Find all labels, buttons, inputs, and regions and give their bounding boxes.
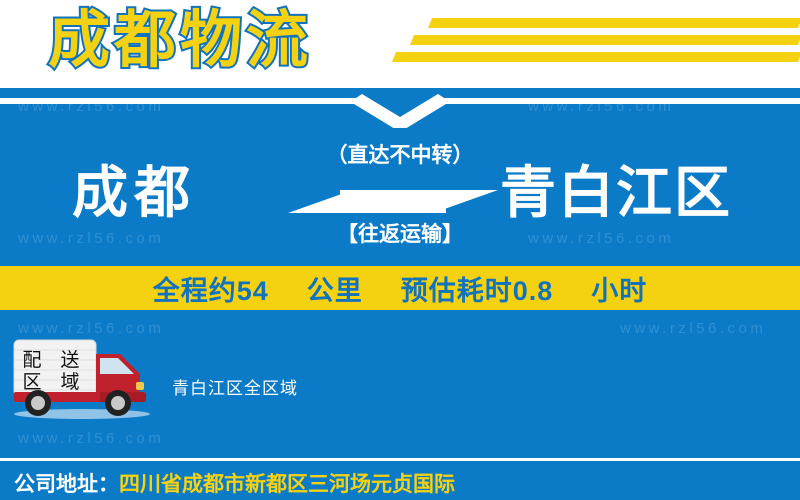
decorative-stripes: [400, 16, 800, 74]
company-address-label: 公司地址：: [14, 473, 119, 496]
duration-unit: 小时: [591, 269, 647, 308]
poster-body: www.rzl56.com www.rzl56.com www.rzl56.co…: [0, 88, 800, 500]
roundtrip-note: 【往返运输】: [300, 222, 500, 248]
watermark: www.rzl56.com: [18, 430, 164, 447]
distance-band: 全程约54 公里 预估耗时0.8 小时: [0, 266, 800, 310]
truck-box-char-3: 区: [22, 371, 41, 393]
truck-box-char-1: 配: [22, 349, 41, 371]
truck-box-char-4: 域: [60, 371, 79, 393]
distance-value: 全程约54: [153, 269, 269, 308]
distance-unit: 公里: [307, 269, 363, 308]
poster-header: 成都物流: [0, 0, 800, 88]
logistics-poster: 成都物流 www.rzl56.com www.rzl56.com www.rzl…: [0, 0, 800, 500]
company-address: 公司地址：四川省成都市新都区三河场元贞国际: [14, 470, 455, 500]
duration-value: 预估耗时0.8: [401, 269, 554, 308]
watermark: www.rzl56.com: [18, 230, 164, 247]
page-title: 成都物流: [48, 4, 312, 78]
watermark: www.rzl56.com: [528, 230, 674, 247]
stripe-1: [428, 18, 800, 28]
watermark: www.rzl56.com: [620, 320, 766, 337]
truck-box-char-2: 送: [60, 349, 79, 371]
footer-divider: [0, 458, 800, 461]
stripe-3: [392, 52, 800, 62]
direct-shipping-note: （直达不中转）: [300, 143, 500, 169]
stripe-2: [410, 35, 800, 45]
origin-city: 成都: [72, 162, 196, 224]
chevron-divider-icon: [0, 94, 800, 128]
two-way-arrow-icon: [288, 180, 498, 222]
company-address-value: 四川省成都市新都区三河场元贞国际: [119, 473, 455, 496]
delivery-truck-icon: 配 送 区 域: [8, 334, 156, 420]
destination-city: 青白江区: [500, 162, 732, 224]
delivery-area-text: 青白江区全区域: [172, 374, 298, 399]
